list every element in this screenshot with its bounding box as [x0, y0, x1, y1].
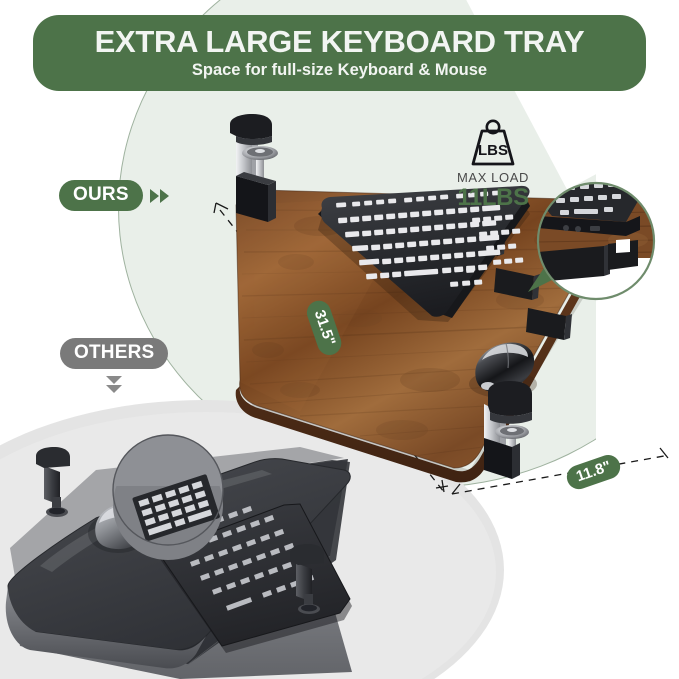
others-badge-group: OTHERS — [60, 338, 168, 394]
weight-icon: LBS — [461, 118, 525, 168]
infographic-root: EXTRA LARGE KEYBOARD TRAY Space for full… — [0, 0, 679, 679]
clamp-front — [484, 381, 532, 479]
max-load-value: 11LBS — [437, 184, 549, 212]
page-subtitle: Space for full-size Keyboard & Mouse — [192, 61, 487, 80]
max-load-caption: MAX LOAD — [437, 170, 549, 185]
arrow-right-icon — [150, 189, 170, 203]
others-badge: OTHERS — [60, 338, 168, 369]
arrow-down-icon — [106, 376, 122, 394]
weight-icon-label: LBS — [478, 142, 508, 159]
max-load-badge: LBS MAX LOAD 11LBS — [437, 118, 549, 212]
header-banner: EXTRA LARGE KEYBOARD TRAY Space for full… — [33, 15, 646, 91]
page-title: EXTRA LARGE KEYBOARD TRAY — [95, 26, 585, 58]
ours-badge: OURS — [59, 180, 143, 211]
clamp-rear — [230, 114, 278, 222]
ours-badge-group: OURS — [59, 180, 170, 211]
